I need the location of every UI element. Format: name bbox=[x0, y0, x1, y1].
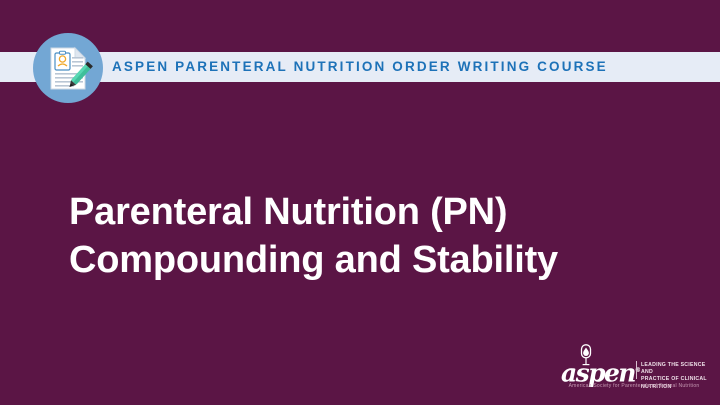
course-title: ASPEN PARENTERAL NUTRITION ORDER WRITING… bbox=[112, 52, 608, 82]
slide-title-line-2: Compounding and Stability bbox=[69, 236, 669, 284]
slide-title: Parenteral Nutrition (PN) Compounding an… bbox=[69, 188, 669, 284]
aspen-full-name: American Society for Parenteral and Ente… bbox=[560, 383, 708, 390]
aspen-wordmark: aspen® bbox=[561, 358, 641, 385]
logo-divider bbox=[636, 361, 637, 379]
aspen-logo: aspen® LEADING THE SCIENCE AND PRACTICE … bbox=[555, 344, 707, 396]
presentation-slide: ASPEN PARENTERAL NUTRITION ORDER WRITING… bbox=[0, 0, 720, 405]
document-with-pen-icon bbox=[33, 33, 103, 103]
aspen-tagline-line-1: LEADING THE SCIENCE AND bbox=[641, 362, 711, 376]
slide-title-line-1: Parenteral Nutrition (PN) bbox=[69, 188, 669, 236]
